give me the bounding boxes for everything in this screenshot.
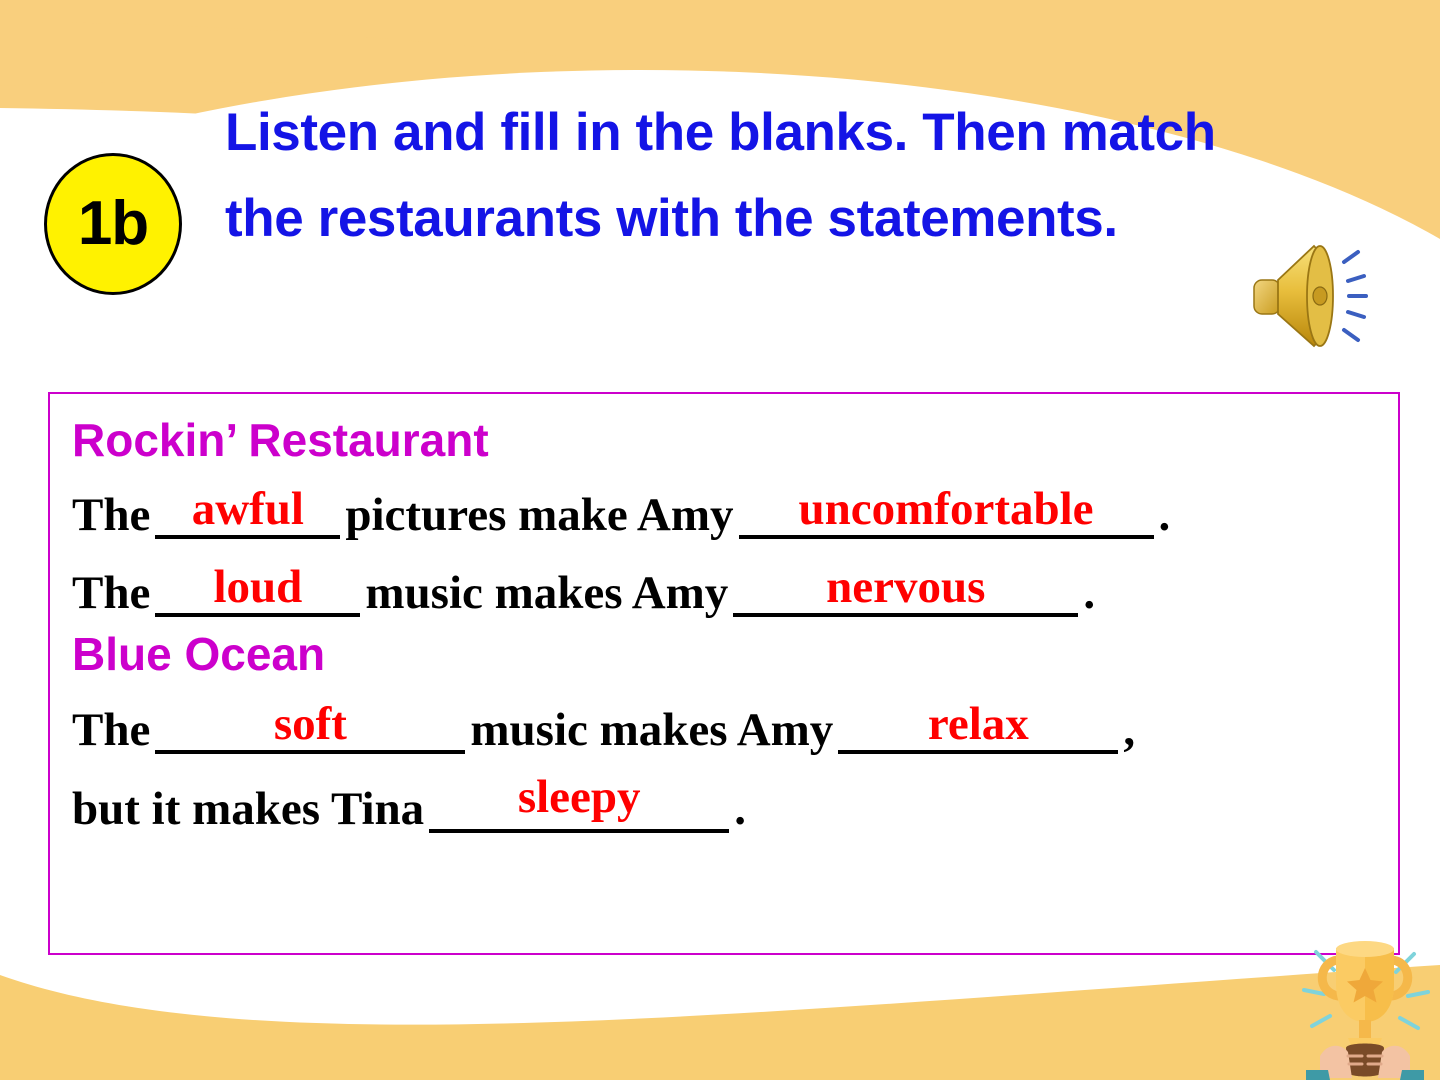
sentence-text-middle: music makes Amy (470, 707, 833, 754)
sentence-row: but it makes Tina sleepy . (72, 780, 1398, 833)
blank-uncomfortable[interactable]: uncomfortable (739, 486, 1154, 539)
slide-canvas: 1b Listen and fill in the blanks. Then m… (0, 0, 1440, 1080)
answer-sleepy: sleepy (518, 774, 641, 821)
answer-uncomfortable: uncomfortable (799, 486, 1094, 533)
page-title: Listen and fill in the blanks. Then matc… (225, 90, 1225, 262)
sentence-text-middle: pictures make Amy (345, 492, 733, 539)
blank-awful[interactable]: awful (155, 486, 340, 539)
sentence-text-after: . (1159, 492, 1171, 539)
sentence-text-after: , (1123, 707, 1135, 754)
sentence-text-before: The (72, 570, 150, 617)
sentence-text-after: . (1083, 570, 1095, 617)
answer-loud: loud (213, 564, 302, 611)
activity-number-label: 1b (78, 193, 148, 255)
speaker-icon[interactable] (1248, 236, 1378, 356)
blank-relax[interactable]: relax (838, 701, 1118, 754)
restaurant-name-blue-ocean: Blue Ocean (72, 630, 1398, 678)
blank-loud[interactable]: loud (155, 564, 360, 617)
sentence-row: The soft music makes Amy relax , (72, 701, 1398, 754)
answer-relax: relax (928, 701, 1029, 748)
answer-soft: soft (274, 701, 347, 748)
sentence-text-middle: music makes Amy (365, 570, 728, 617)
sentence-text-before: The (72, 492, 150, 539)
blank-sleepy[interactable]: sleepy (429, 780, 729, 833)
activity-number-badge: 1b (44, 153, 182, 295)
trophy-icon (1290, 938, 1440, 1080)
sentence-text-before: but it makes Tina (72, 786, 424, 833)
blank-nervous[interactable]: nervous (733, 564, 1078, 617)
answer-nervous: nervous (826, 564, 985, 611)
sentence-row: The awful pictures make Amy uncomfortabl… (72, 486, 1398, 539)
answer-awful: awful (192, 486, 304, 533)
exercise-box: Rockin’ Restaurant The awful pictures ma… (48, 392, 1400, 955)
blank-soft[interactable]: soft (155, 701, 465, 754)
sentence-text-before: The (72, 707, 150, 754)
sentence-text-after: . (734, 786, 746, 833)
sentence-row: The loud music makes Amy nervous . (72, 564, 1398, 617)
restaurant-name-rockin: Rockin’ Restaurant (72, 416, 1398, 464)
header: 1b Listen and fill in the blanks. Then m… (0, 68, 1440, 338)
